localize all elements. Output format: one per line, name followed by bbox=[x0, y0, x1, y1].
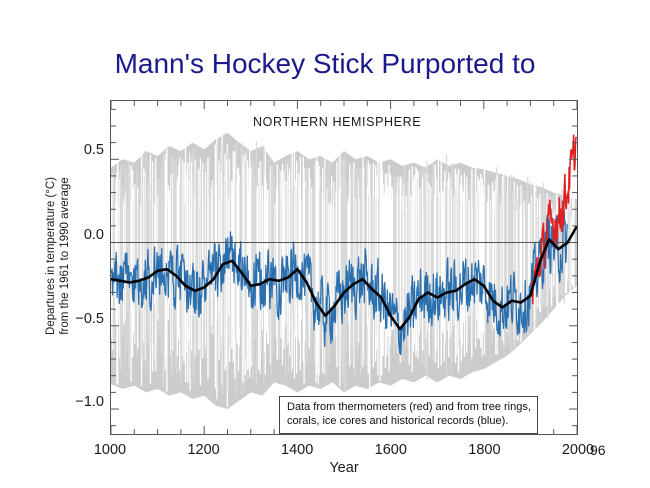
x-axis-ticks: 1000 1200 1400 1600 1800 2000 bbox=[110, 436, 578, 462]
x-tick-label: 1200 bbox=[169, 442, 239, 458]
x-tick-label: 1800 bbox=[449, 442, 519, 458]
slide-root: Mann's Hockey Stick Purported to Show Re… bbox=[0, 0, 650, 488]
hemisphere-annotation: NORTHERN HEMISPHERE bbox=[253, 115, 421, 129]
x-axis-label: Year bbox=[110, 460, 578, 476]
chart-canvas bbox=[111, 101, 577, 434]
x-tick-label: 1000 bbox=[75, 442, 145, 458]
y-tick-label: −1.0 bbox=[62, 394, 104, 410]
plot-area: NORTHERN HEMISPHERE Data from thermomete… bbox=[110, 100, 578, 435]
data-source-annotation: Data from thermometers (red) and from tr… bbox=[279, 396, 538, 434]
y-axis-ticks: 0.5 0.0 −0.5 −1.0 bbox=[20, 92, 104, 443]
x-tick-label: 1400 bbox=[262, 442, 332, 458]
title-line-1: Mann's Hockey Stick Purported to bbox=[0, 48, 650, 80]
slide-corner-note: 96 bbox=[590, 442, 606, 458]
y-tick-label: −0.5 bbox=[62, 311, 104, 327]
y-tick-label: 0.5 bbox=[62, 142, 104, 158]
x-tick-label: 1600 bbox=[356, 442, 426, 458]
y-tick-label: 0.0 bbox=[62, 227, 104, 243]
chart-figure: Departures in temperature (°C) from the … bbox=[0, 92, 650, 488]
